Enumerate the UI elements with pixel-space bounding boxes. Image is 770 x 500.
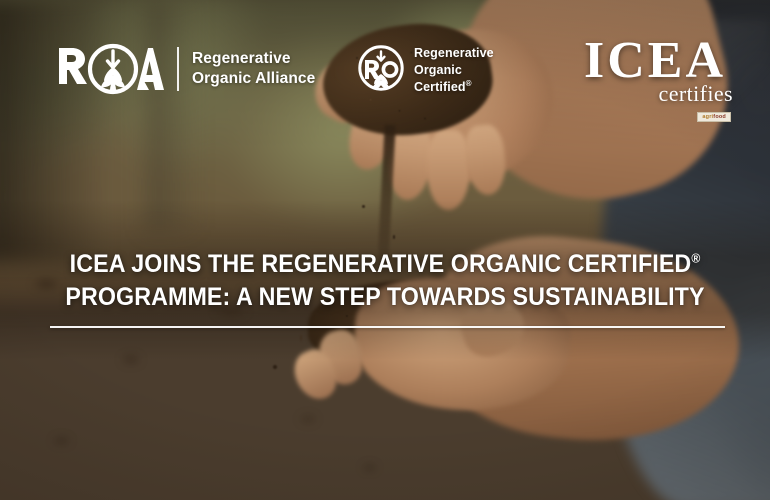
logo-divider: [177, 47, 179, 91]
roc-name-line3: Certified: [414, 80, 466, 94]
roc-name-line2: Organic: [414, 63, 462, 77]
icea-tagline-prefix: agri: [702, 114, 713, 120]
icea-tagline-wrap: agrifood: [575, 105, 735, 123]
roa-name-line2: Organic Alliance: [192, 70, 315, 87]
roc-name: Regenerative Organic Certified®: [414, 45, 494, 95]
headline-line-1: ICEA JOINS THE REGENERATIVE ORGANIC CERT…: [70, 250, 692, 278]
roc-name-line1: Regenerative: [414, 46, 494, 60]
logo-regenerative-organic-certified: Regenerative Organic Certified®: [357, 44, 494, 97]
page-title: ICEA JOINS THE REGENERATIVE ORGANIC CERT…: [27, 248, 743, 313]
banner-overlay: Regenerative Organic Alliance: [0, 0, 770, 500]
headline-line-2: PROGRAMME: A NEW STEP TOWARDS SUSTAINABI…: [27, 281, 743, 314]
registered-mark: ®: [691, 251, 700, 266]
roa-circle-leaf-icon: [57, 42, 165, 96]
roa-name: Regenerative Organic Alliance: [192, 49, 315, 89]
ro-circle-arrow-leaf-icon: [357, 44, 405, 97]
hero-banner: Regenerative Organic Alliance: [0, 0, 770, 500]
icea-tagline-text: food: [713, 114, 726, 120]
registered-mark: ®: [466, 79, 472, 88]
logo-row: Regenerative Organic Alliance: [0, 38, 770, 114]
icea-wordmark: ICEA: [575, 36, 735, 85]
roa-name-line1: Regenerative: [192, 50, 291, 67]
logo-regenerative-organic-alliance: Regenerative Organic Alliance: [57, 42, 315, 96]
icea-tagline-badge: agrifood: [697, 112, 731, 122]
headline-underline-rule: [50, 326, 725, 328]
logo-icea-certifies: ICEA certifies agrifood: [575, 36, 735, 123]
